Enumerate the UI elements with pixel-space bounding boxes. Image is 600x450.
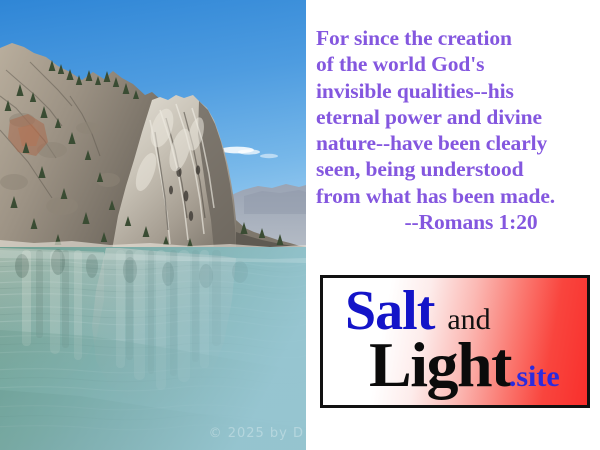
verse-line-6: seen, being understood <box>316 156 600 182</box>
verse-line-3: invisible qualities--his <box>316 78 600 104</box>
verse-line-4: eternal power and divine <box>316 104 600 130</box>
logo-word-site: .site <box>509 360 560 393</box>
verse-line-2: of the world God's <box>316 51 600 77</box>
photo-artwork <box>0 0 306 450</box>
verse-line-7: from what has been made. <box>316 183 600 209</box>
image-canvas: © 2025 by D For since the creation of th… <box>0 0 600 450</box>
verse-reference: --Romans 1:20 <box>316 209 600 235</box>
logo-line-bottom: Light.site <box>323 333 587 397</box>
verse-line-5: nature--have been clearly <box>316 130 600 156</box>
right-text-panel: For since the creation of the world God'… <box>306 0 600 450</box>
logo-word-light: Light <box>369 329 511 400</box>
salt-and-light-logo[interactable]: Saltand Light.site <box>320 275 590 408</box>
cliff-lake-photo: © 2025 by D <box>0 0 306 450</box>
verse-line-1: For since the creation <box>316 25 600 51</box>
scripture-verse: For since the creation of the world God'… <box>316 25 600 235</box>
